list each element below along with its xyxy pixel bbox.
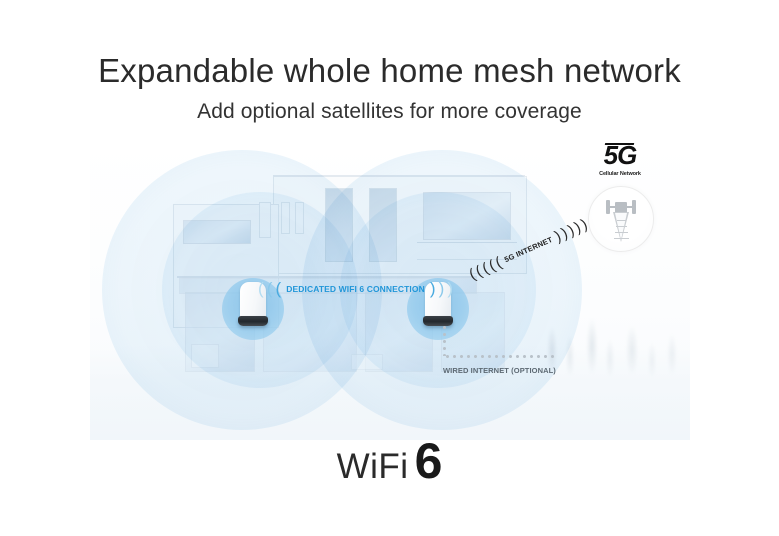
page-subtitle: Add optional satellites for more coverag…: [0, 100, 779, 124]
mesh-network-diagram: ( ( ( DEDICATED WIFI 6 CONNECTION ) ) ) …: [90, 140, 690, 440]
cell-tower-icon: [604, 198, 638, 242]
wifi6-numeral: 6: [415, 433, 443, 489]
5g-logo: 5G Cellular Network: [588, 142, 652, 177]
5g-logo-caption: Cellular Network: [588, 171, 652, 177]
page-title: Expandable whole home mesh network: [0, 52, 779, 90]
signal-arc-right-3: ): [447, 280, 453, 297]
wifi6-word: WiFi: [337, 447, 409, 486]
cell-tower-badge: [588, 186, 654, 252]
signal-arc-left-3: (: [258, 280, 264, 297]
tower-rung-3: [615, 232, 628, 233]
dedicated-wifi6-link: ( ( ( DEDICATED WIFI 6 CONNECTION ) ) ): [258, 280, 453, 297]
wired-link-horizontal-dots: [444, 355, 554, 358]
signal-arc-left-1: (: [276, 280, 282, 297]
tower-rung-2: [616, 226, 627, 227]
signal-arc-left-2: (: [267, 280, 273, 297]
satellite-base: [423, 316, 453, 326]
wifi6-logo: WiFi6: [0, 432, 779, 490]
wired-internet-label: WIRED INTERNET (OPTIONAL): [443, 366, 556, 375]
dedicated-wifi6-label: DEDICATED WIFI 6 CONNECTION: [284, 284, 427, 294]
5g-logo-glyph: 5G: [604, 142, 637, 168]
signal-arc-right-1: ): [430, 280, 436, 297]
signal-arc-right-2: ): [439, 280, 445, 297]
promo-graphic: Expandable whole home mesh network Add o…: [0, 0, 779, 536]
tower-rung-1: [617, 220, 626, 221]
wired-link-vertical-dots: [443, 324, 446, 356]
router-base: [238, 316, 268, 326]
tower-rung-4: [614, 238, 629, 239]
